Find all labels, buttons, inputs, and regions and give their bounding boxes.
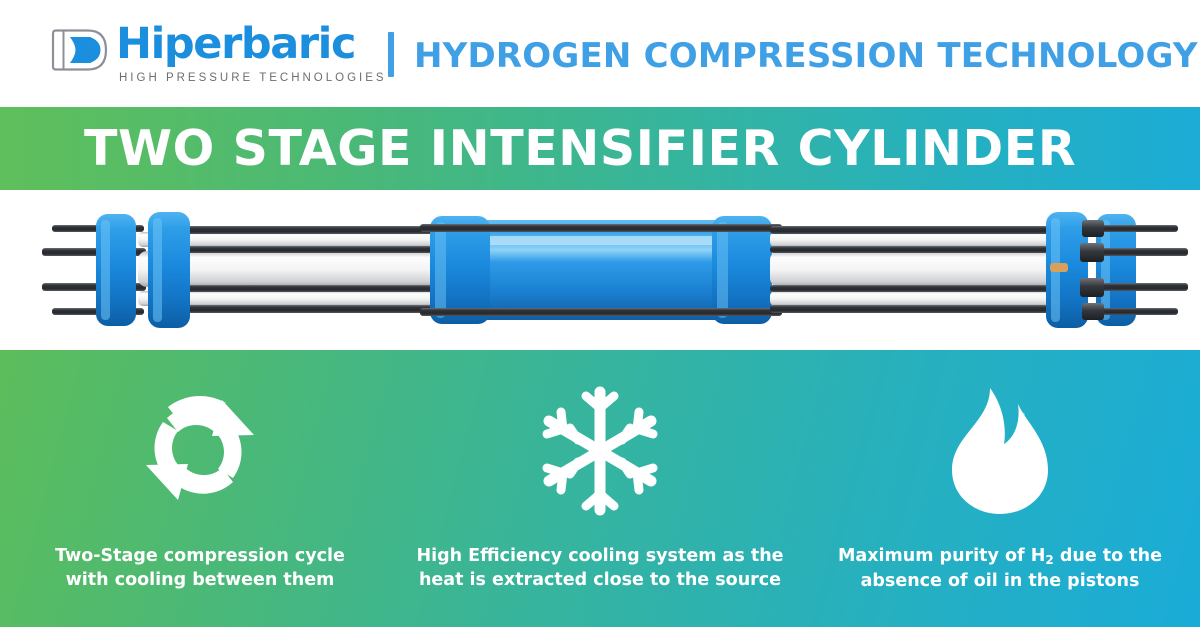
brand-text-block: Hiperbaric HIGH PRESSURE TECHNOLOGIES: [116, 22, 387, 85]
intensifier-cylinder-image: [0, 190, 1200, 350]
feature-caption-1-line1: Two-Stage compression cycle: [55, 544, 345, 568]
feature-caption-2-line1: High Efficiency cooling system as the: [416, 544, 783, 568]
brand-name: Hiperbaric: [116, 22, 387, 66]
feature-caption-3-line1-pre: Maximum purity of H: [838, 546, 1045, 566]
feature-cooling-system: High Efficiency cooling system as the he…: [400, 350, 800, 627]
hiperbaric-cone-arrow-logo-icon: [48, 26, 110, 74]
feature-two-stage-cycle: Two-Stage compression cycle with cooling…: [0, 350, 400, 627]
feature-hydrogen-purity: Maximum purity of H2 due to the absence …: [800, 350, 1200, 627]
feature-caption-2: High Efficiency cooling system as the he…: [416, 544, 783, 592]
feature-caption-3-line1: Maximum purity of H2 due to the: [838, 544, 1162, 569]
water-drop-icon: [930, 378, 1070, 524]
feature-caption-2-line2: heat is extracted close to the source: [416, 568, 783, 592]
page-title: TWO STAGE INTENSIFIER CYLINDER: [84, 123, 1076, 175]
header-bar: Hiperbaric HIGH PRESSURE TECHNOLOGIES HY…: [0, 0, 1200, 106]
snowflake-icon: [530, 378, 670, 524]
feature-caption-3-line1-post: due to the: [1054, 546, 1162, 566]
header-title: HYDROGEN COMPRESSION TECHNOLOGY: [414, 36, 1198, 76]
infographic-page: Hiperbaric HIGH PRESSURE TECHNOLOGIES HY…: [0, 0, 1200, 627]
feature-caption-3-line2: absence of oil in the pistons: [838, 569, 1162, 593]
features-section: Two-Stage compression cycle with cooling…: [0, 350, 1200, 627]
title-band: TWO STAGE INTENSIFIER CYLINDER: [0, 107, 1200, 190]
product-image-area: [0, 190, 1200, 350]
right-tube-bank: [770, 226, 1060, 313]
feature-caption-1: Two-Stage compression cycle with cooling…: [55, 544, 345, 592]
feature-caption-3: Maximum purity of H2 due to the absence …: [838, 544, 1162, 593]
header-divider: [388, 32, 394, 77]
brand-lockup: Hiperbaric HIGH PRESSURE TECHNOLOGIES: [48, 22, 387, 85]
recycle-cycle-arrows-icon: [130, 378, 270, 524]
brand-tagline: HIGH PRESSURE TECHNOLOGIES: [119, 71, 387, 85]
feature-caption-1-line2: with cooling between them: [55, 568, 345, 592]
features-row: Two-Stage compression cycle with cooling…: [0, 350, 1200, 627]
center-stage-body: [420, 216, 782, 324]
hydrogen-subscript: 2: [1045, 553, 1053, 567]
